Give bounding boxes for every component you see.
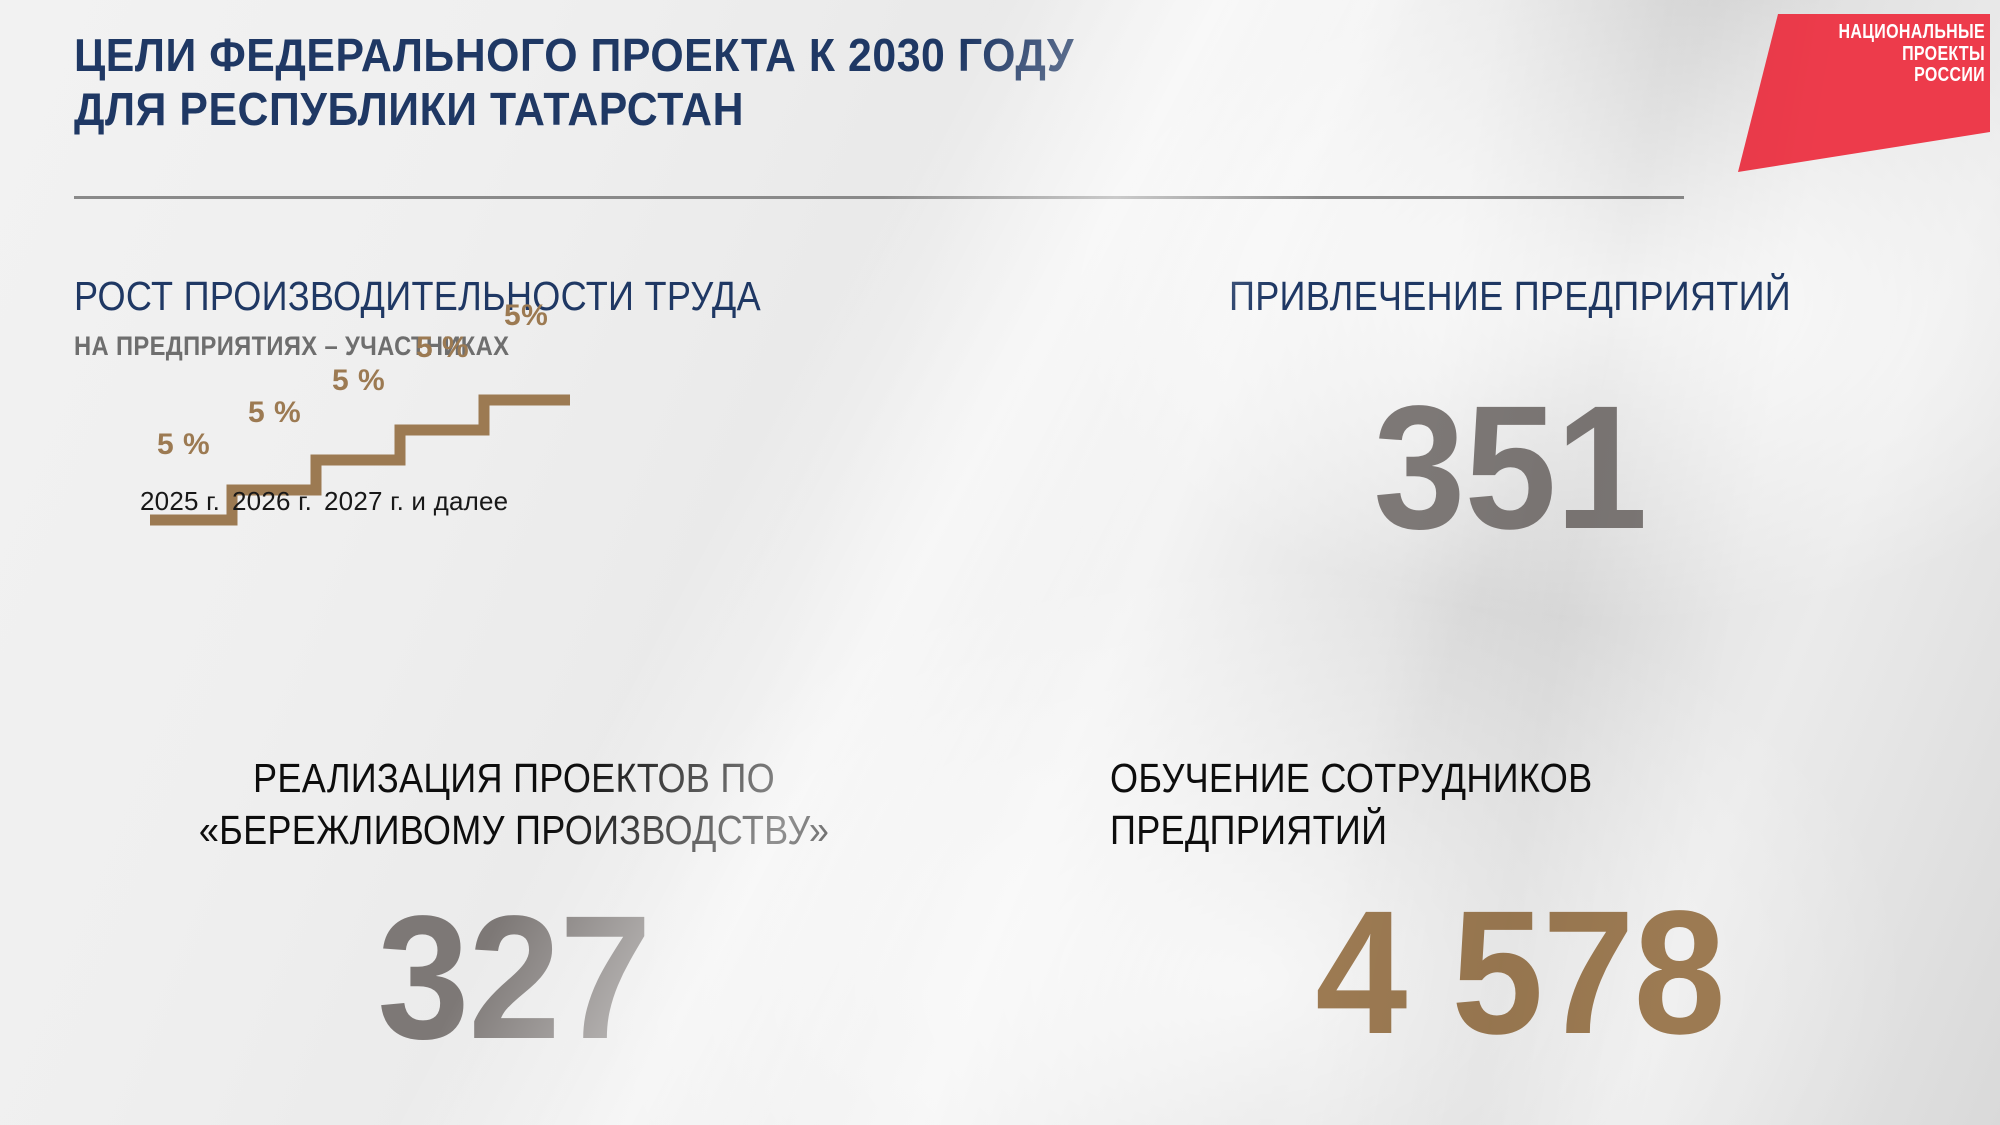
slide-canvas: НАЦИОНАЛЬНЫЕ ПРОЕКТЫ РОССИИ ЦЕЛИ ФЕДЕРАЛ… [0, 0, 2000, 1125]
block-productivity: РОСТ ПРОИЗВОДИТЕЛЬНОСТИ ТРУДА НА ПРЕДПРИ… [74, 272, 934, 362]
lean-projects-heading-line-1: РЕАЛИЗАЦИЯ ПРОЕКТОВ ПО [127, 752, 901, 804]
block-enterprises: ПРИВЛЕЧЕНИЕ ПРЕДПРИЯТИЙ [1110, 272, 1910, 321]
lean-projects-heading: РЕАЛИЗАЦИЯ ПРОЕКТОВ ПО «БЕРЕЖЛИВОМУ ПРОИ… [74, 752, 954, 857]
axis-label-2025: 2025 г. [140, 486, 220, 516]
axis-label-2026: 2026 г. [232, 486, 312, 516]
chart-axis-labels: 2025 г.2026 г.2027 г. и далее [140, 486, 660, 517]
logo-line-1: НАЦИОНАЛЬНЫЕ [1833, 22, 1985, 44]
logo-text: НАЦИОНАЛЬНЫЕ ПРОЕКТЫ РОССИИ [1795, 22, 1985, 87]
title-divider [74, 196, 1684, 199]
training-value: 4 578 [1110, 885, 1930, 1061]
logo-line-2: ПРОЕКТЫ [1833, 44, 1985, 66]
block-training: ОБУЧЕНИЕ СОТРУДНИКОВ ПРЕДПРИЯТИЙ [1110, 752, 1930, 857]
lean-projects-heading-line-2: «БЕРЕЖЛИВОМУ ПРОИЗВОДСТВУ» [127, 804, 901, 856]
page-title: ЦЕЛИ ФЕДЕРАЛЬНОГО ПРОЕКТА К 2030 ГОДУ ДЛ… [74, 28, 1324, 137]
page-title-line-2: ДЛЯ РЕСПУБЛИКИ ТАТАРСТАН [74, 82, 1237, 136]
enterprises-heading: ПРИВЛЕЧЕНИЕ ПРЕДПРИЯТИЙ [1110, 272, 1910, 321]
lean-projects-value: 327 [74, 890, 954, 1066]
block-lean-projects: РЕАЛИЗАЦИЯ ПРОЕКТОВ ПО «БЕРЕЖЛИВОМУ ПРОИ… [74, 752, 954, 857]
training-heading-line-1: ОБУЧЕНИЕ СОТРУДНИКОВ [1110, 752, 1832, 804]
training-heading: ОБУЧЕНИЕ СОТРУДНИКОВ ПРЕДПРИЯТИЙ [1110, 752, 1930, 857]
enterprises-value: 351 [1110, 380, 1910, 556]
productivity-heading: РОСТ ПРОИЗВОДИТЕЛЬНОСТИ ТРУДА [74, 272, 934, 321]
step-label-3: 5 % [332, 364, 385, 398]
page-title-line-1: ЦЕЛИ ФЕДЕРАЛЬНОГО ПРОЕКТА К 2030 ГОДУ [74, 28, 1237, 82]
logo-line-3: РОССИИ [1833, 65, 1985, 87]
productivity-subheading: НА ПРЕДПРИЯТИЯХ – УЧАСТНИКАХ [74, 331, 934, 362]
training-heading-line-2: ПРЕДПРИЯТИЙ [1110, 804, 1832, 856]
axis-label-2027: 2027 г. и далее [324, 486, 508, 516]
